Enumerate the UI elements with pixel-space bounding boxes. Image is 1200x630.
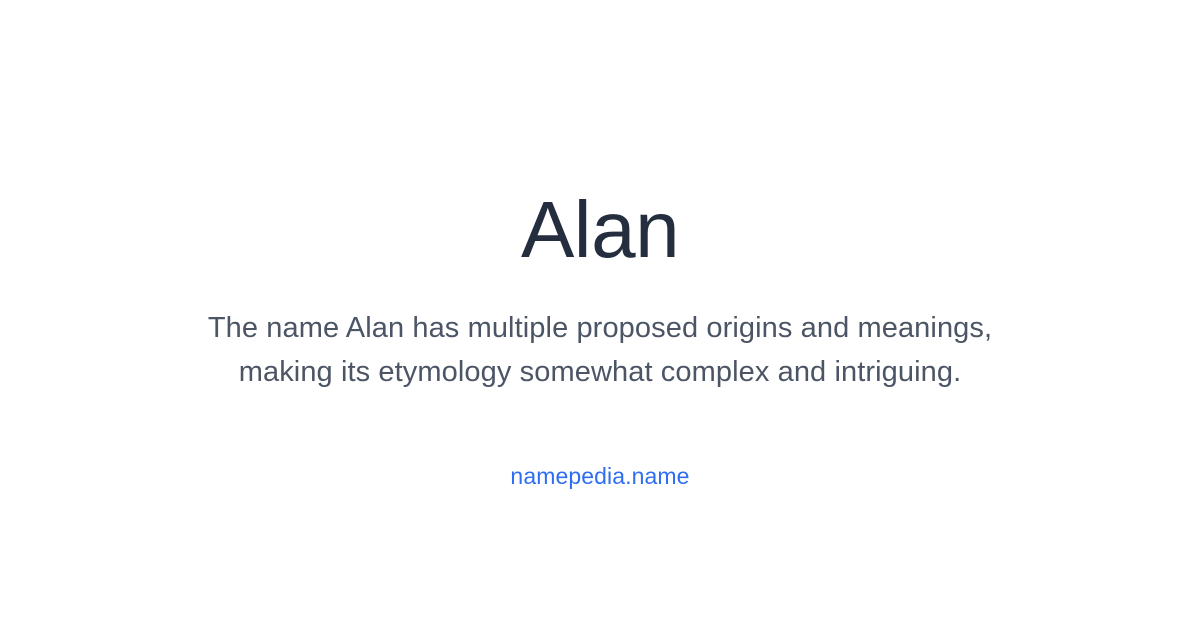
page-title: Alan [521,190,679,270]
name-description: The name Alan has multiple proposed orig… [170,306,1030,394]
site-link[interactable]: namepedia.name [510,462,689,490]
name-info-card: Alan The name Alan has multiple proposed… [0,0,1200,630]
card-content: Alan The name Alan has multiple proposed… [0,0,1200,490]
